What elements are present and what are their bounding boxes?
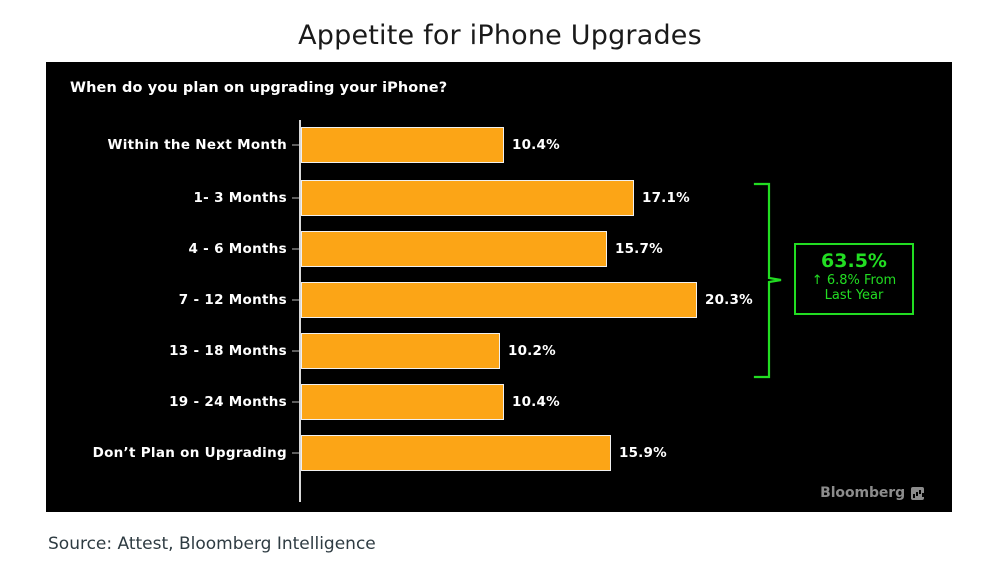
bar[interactable] — [301, 384, 504, 420]
bar-row: Don’t Plan on Upgrading 15.9% — [46, 428, 952, 478]
callout-box: 63.5% ↑ 6.8% From Last Year — [794, 243, 914, 315]
category-label: 1- 3 Months — [193, 190, 287, 206]
bar[interactable] — [301, 282, 697, 318]
category-label: 7 - 12 Months — [179, 292, 287, 308]
bloomberg-wordmark: Bloomberg — [820, 485, 905, 501]
bar-value-label: 15.9% — [619, 445, 667, 461]
bar-value-label: 10.4% — [512, 137, 560, 153]
bar-row: 1- 3 Months 17.1% — [46, 173, 952, 223]
axis-tick — [292, 351, 299, 352]
category-label: Don’t Plan on Upgrading — [93, 445, 287, 461]
bar-value-label: 10.4% — [512, 394, 560, 410]
axis-tick — [292, 145, 299, 146]
bar-value-label: 10.2% — [508, 343, 556, 359]
bar-row: Within the Next Month 10.4% — [46, 120, 952, 170]
group-bracket-icon — [751, 182, 785, 379]
axis-tick — [292, 249, 299, 250]
bloomberg-terminal-icon — [911, 487, 924, 500]
chart-subtitle: When do you plan on upgrading your iPhon… — [70, 80, 447, 96]
bar[interactable] — [301, 231, 607, 267]
callout-change-line1: ↑ 6.8% From — [812, 273, 896, 288]
bar-value-label: 20.3% — [705, 292, 753, 308]
page-title: Appetite for iPhone Upgrades — [0, 0, 1000, 49]
axis-tick — [292, 453, 299, 454]
axis-tick — [292, 300, 299, 301]
bar[interactable] — [301, 127, 504, 163]
chart-panel: When do you plan on upgrading your iPhon… — [46, 62, 952, 512]
plot-area: Within the Next Month 10.4% 1- 3 Months … — [46, 120, 952, 512]
category-label: 13 - 18 Months — [169, 343, 287, 359]
axis-tick — [292, 198, 299, 199]
bar-row: 19 - 24 Months 10.4% — [46, 377, 952, 427]
category-label: 4 - 6 Months — [188, 241, 287, 257]
bloomberg-brand: Bloomberg — [820, 485, 924, 501]
source-note: Source: Attest, Bloomberg Intelligence — [48, 534, 376, 554]
category-label: Within the Next Month — [108, 137, 287, 153]
callout-change-line2: Last Year — [825, 288, 884, 303]
bar-value-label: 17.1% — [642, 190, 690, 206]
axis-tick — [292, 402, 299, 403]
bar[interactable] — [301, 180, 634, 216]
callout-change: ↑ 6.8% From Last Year — [796, 273, 912, 304]
category-label: 19 - 24 Months — [169, 394, 287, 410]
callout-value: 63.5% — [796, 252, 912, 272]
bar-row: 13 - 18 Months 10.2% — [46, 326, 952, 376]
bar[interactable] — [301, 435, 611, 471]
bar-value-label: 15.7% — [615, 241, 663, 257]
bar[interactable] — [301, 333, 500, 369]
